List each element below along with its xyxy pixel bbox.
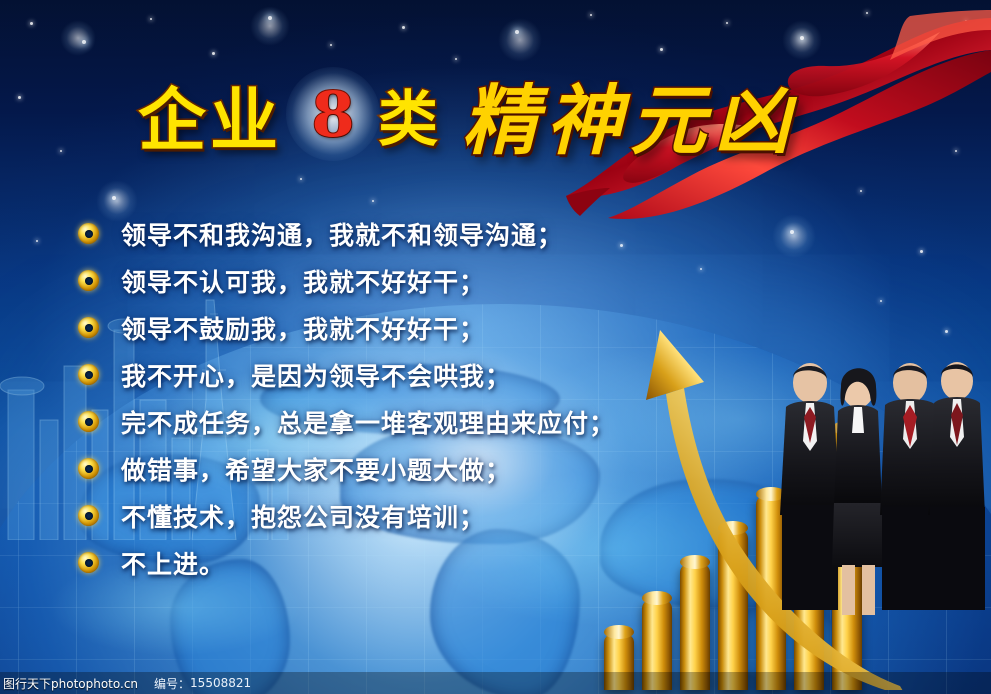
bullet-icon bbox=[78, 552, 99, 573]
list-item: 领导不认可我，我就不好好干； bbox=[78, 257, 698, 304]
list-item: 不上进。 bbox=[78, 539, 698, 586]
list-item-label: 做错事，希望大家不要小题大做； bbox=[121, 451, 511, 487]
list-item-label: 我不开心，是因为领导不会哄我； bbox=[121, 357, 511, 393]
list-item-label: 领导不和我沟通，我就不和领导沟通； bbox=[121, 216, 563, 252]
title-part-2: 类 bbox=[378, 71, 440, 158]
list-item: 我不开心，是因为领导不会哄我； bbox=[78, 351, 698, 398]
list-item: 完不成任务，总是拿一堆客观理由来应付； bbox=[78, 398, 698, 445]
person-1 bbox=[780, 363, 840, 610]
bullet-icon bbox=[78, 270, 99, 291]
list-item: 领导不鼓励我，我就不好好干； bbox=[78, 304, 698, 351]
title-number: 8 bbox=[311, 78, 354, 151]
business-people-photo bbox=[770, 355, 985, 620]
bullet-icon bbox=[78, 505, 99, 526]
list-item: 不懂技术，抱怨公司没有培训； bbox=[78, 492, 698, 539]
title-part-1: 企业 bbox=[138, 65, 282, 164]
watermark-id-label: 编号： bbox=[154, 675, 190, 692]
list-item-label: 不懂技术，抱怨公司没有培训； bbox=[121, 498, 485, 534]
watermark-logo: 图行天下photophoto.cn bbox=[0, 675, 138, 692]
person-2 bbox=[832, 368, 884, 615]
watermark-bar: 图行天下photophoto.cn 编号： 15508821 bbox=[0, 672, 991, 694]
person-4 bbox=[928, 362, 985, 610]
list-item-label: 领导不鼓励我，我就不好好干； bbox=[121, 310, 485, 346]
poster-canvas: 企业 8 类 精神元凶 领导不和我沟通，我就不和领导沟通； 领导不认可我，我就不… bbox=[0, 0, 991, 694]
list-item-label: 不上进。 bbox=[121, 545, 225, 581]
watermark-id-value: 15508821 bbox=[190, 676, 251, 690]
title-number-badge: 8 bbox=[296, 77, 370, 151]
bullet-icon bbox=[78, 458, 99, 479]
list-item: 做错事，希望大家不要小题大做； bbox=[78, 445, 698, 492]
statement-list: 领导不和我沟通，我就不和领导沟通； 领导不认可我，我就不好好干； 领导不鼓励我，… bbox=[78, 210, 698, 586]
list-item-label: 领导不认可我，我就不好好干； bbox=[121, 263, 485, 299]
bullet-icon bbox=[78, 317, 99, 338]
bullet-icon bbox=[78, 411, 99, 432]
poster-title: 企业 8 类 精神元凶 bbox=[138, 68, 798, 160]
bullet-icon bbox=[78, 364, 99, 385]
list-item-label: 完不成任务，总是拿一堆客观理由来应付； bbox=[121, 404, 615, 440]
list-item: 领导不和我沟通，我就不和领导沟通； bbox=[78, 210, 698, 257]
title-part-3: 精神元凶 bbox=[462, 59, 798, 169]
bullet-icon bbox=[78, 223, 99, 244]
